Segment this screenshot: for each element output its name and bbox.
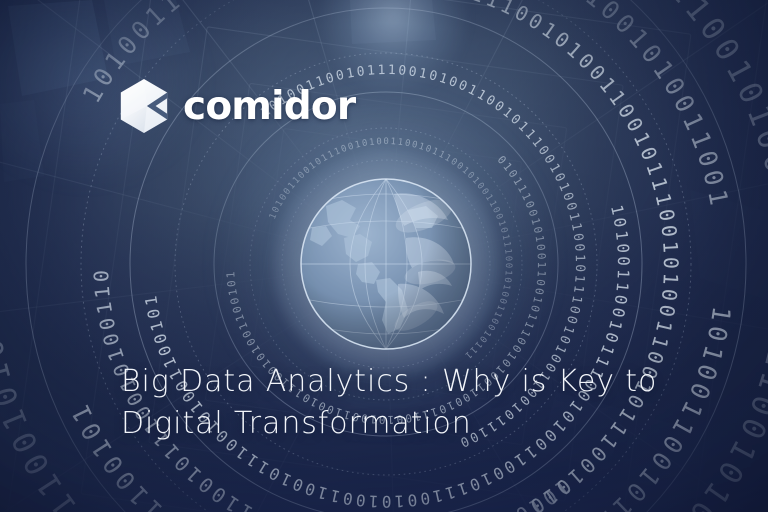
comidor-hexagon-logo-icon [118,78,170,134]
page-title: Big Data Analytics : Why is Key to Digit… [121,361,711,445]
comidor-wordmark: comidor [183,87,355,126]
page-title-line-2: Digital Transformation [121,403,711,445]
comidor-logo[interactable]: comidor [118,78,355,134]
banner-root: 1010011001011100101001100101110010100110… [0,0,768,512]
page-title-line-1: Big Data Analytics : Why is Key to [121,361,711,403]
